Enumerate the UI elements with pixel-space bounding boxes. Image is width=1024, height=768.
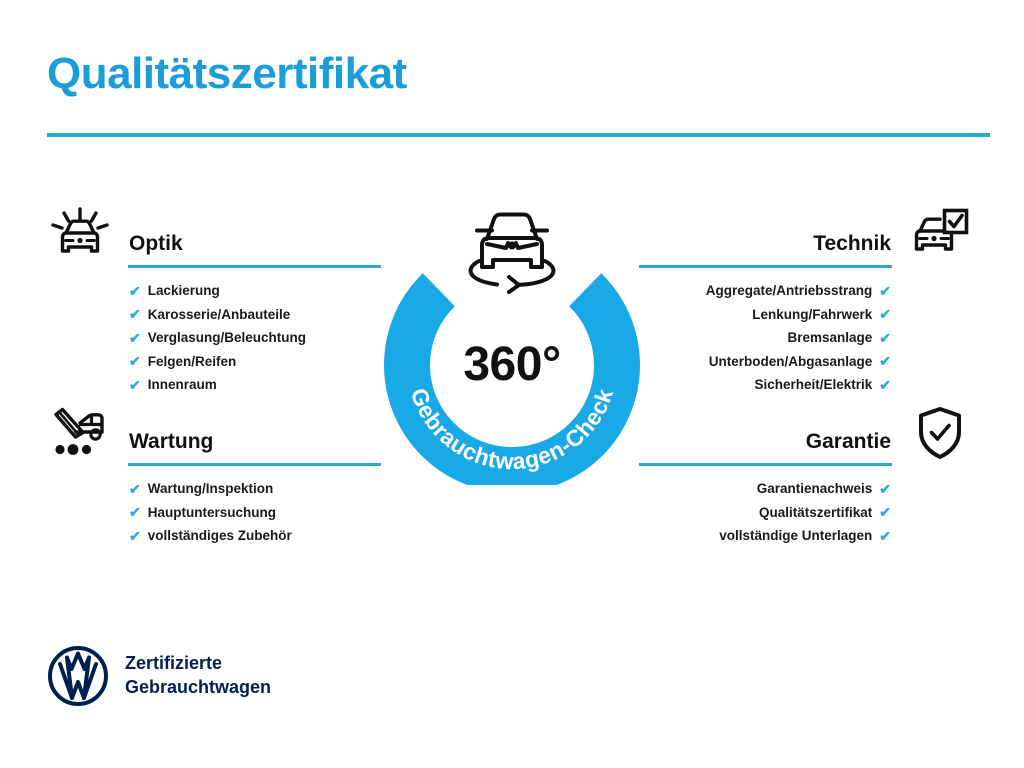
list-item: ✔Verglasung/Beleuchtung <box>47 326 380 350</box>
shield-check-icon <box>907 404 973 462</box>
footer-line-1: Zertifizierte <box>125 652 271 676</box>
section-garantie: Garantie Garantienachweis✔ Qualitätszert… <box>640 404 973 548</box>
list-item: Qualitätszertifikat✔ <box>640 501 973 525</box>
list-item-label: Lackierung <box>148 279 220 303</box>
list-item: ✔Felgen/Reifen <box>47 350 380 374</box>
checklist-technik: Aggregate/Antriebsstrang✔ Lenkung/Fahrwe… <box>640 279 973 397</box>
list-item: Unterboden/Abgasanlage✔ <box>640 350 973 374</box>
section-divider <box>639 463 892 466</box>
quality-certificate-page: Qualitätszertifikat <box>0 0 1024 768</box>
section-title: Garantie <box>806 430 891 454</box>
check-icon: ✔ <box>129 307 141 321</box>
list-item-label: Wartung/Inspektion <box>148 477 274 501</box>
section-technik: Technik Aggregate/Antriebsstrang✔ Lenkun… <box>640 206 973 397</box>
check-icon: ✔ <box>879 284 891 298</box>
car-service-pen-icon <box>47 404 113 462</box>
check-icon: ✔ <box>129 284 141 298</box>
header-divider <box>47 133 990 137</box>
checklist-optik: ✔Lackierung ✔Karosserie/Anbauteile ✔Verg… <box>47 279 380 397</box>
list-item-label: Verglasung/Beleuchtung <box>148 326 306 350</box>
check-icon: ✔ <box>879 354 891 368</box>
check-icon: ✔ <box>879 529 891 543</box>
list-item: ✔vollständiges Zubehör <box>47 524 380 548</box>
list-item: Lenkung/Fahrwerk✔ <box>640 303 973 327</box>
check-icon: ✔ <box>129 354 141 368</box>
list-item-label: vollständiges Zubehör <box>148 524 292 548</box>
checklist-wartung: ✔Wartung/Inspektion ✔Hauptuntersuchung ✔… <box>47 477 380 548</box>
list-item-label: Unterboden/Abgasanlage <box>709 350 873 374</box>
check-icon: ✔ <box>879 307 891 321</box>
section-optik: Optik ✔Lackierung ✔Karosserie/Anbauteile… <box>47 206 380 397</box>
section-title: Wartung <box>129 430 213 454</box>
check-icon: ✔ <box>879 378 891 392</box>
list-item-label: Qualitätszertifikat <box>759 501 872 525</box>
page-title: Qualitätszertifikat <box>47 50 407 98</box>
list-item: ✔Innenraum <box>47 373 380 397</box>
list-item: ✔Lackierung <box>47 279 380 303</box>
check-icon: ✔ <box>129 331 141 345</box>
check-icon: ✔ <box>129 529 141 543</box>
list-item: vollständige Unterlagen✔ <box>640 524 973 548</box>
list-item: Aggregate/Antriebsstrang✔ <box>640 279 973 303</box>
footer-line-2: Gebrauchtwagen <box>125 676 271 700</box>
check-icon: ✔ <box>879 331 891 345</box>
check-icon: ✔ <box>129 505 141 519</box>
check-icon: ✔ <box>879 482 891 496</box>
car-front-checkbox-icon <box>907 206 973 264</box>
list-item-label: Aggregate/Antriebsstrang <box>706 279 873 303</box>
car-front-shine-icon <box>47 206 113 264</box>
list-item-label: Felgen/Reifen <box>148 350 237 374</box>
checklist-garantie: Garantienachweis✔ Qualitätszertifikat✔ v… <box>640 477 973 548</box>
list-item-label: Hauptuntersuchung <box>148 501 276 525</box>
section-divider <box>128 463 381 466</box>
section-header-technik: Technik <box>640 206 973 268</box>
list-item-label: Lenkung/Fahrwerk <box>752 303 872 327</box>
footer-text: Zertifizierte Gebrauchtwagen <box>125 652 271 700</box>
badge-360-gebrauchtwagen-check: Gebrauchtwagen-Check 360° <box>376 195 648 485</box>
section-title: Optik <box>129 232 183 256</box>
list-item: Sicherheit/Elektrik✔ <box>640 373 973 397</box>
car-front-rotate-icon <box>457 199 567 295</box>
volkswagen-logo <box>47 645 109 707</box>
badge-center-label: 360° <box>376 337 648 392</box>
list-item-label: Sicherheit/Elektrik <box>754 373 872 397</box>
footer-branding: Zertifizierte Gebrauchtwagen <box>47 645 271 707</box>
section-wartung: Wartung ✔Wartung/Inspektion ✔Hauptunters… <box>47 404 380 548</box>
section-header-optik: Optik <box>47 206 380 268</box>
section-divider <box>128 265 381 268</box>
list-item-label: Bremsanlage <box>787 326 872 350</box>
list-item-label: Innenraum <box>148 373 217 397</box>
check-icon: ✔ <box>129 378 141 392</box>
list-item: ✔Karosserie/Anbauteile <box>47 303 380 327</box>
section-header-garantie: Garantie <box>640 404 973 466</box>
section-title: Technik <box>813 232 891 256</box>
list-item: ✔Hauptuntersuchung <box>47 501 380 525</box>
list-item: ✔Wartung/Inspektion <box>47 477 380 501</box>
list-item: Bremsanlage✔ <box>640 326 973 350</box>
check-icon: ✔ <box>879 505 891 519</box>
list-item-label: Karosserie/Anbauteile <box>148 303 291 327</box>
check-icon: ✔ <box>129 482 141 496</box>
section-divider <box>639 265 892 268</box>
list-item-label: vollständige Unterlagen <box>719 524 872 548</box>
list-item-label: Garantienachweis <box>757 477 873 501</box>
section-header-wartung: Wartung <box>47 404 380 466</box>
list-item: Garantienachweis✔ <box>640 477 973 501</box>
